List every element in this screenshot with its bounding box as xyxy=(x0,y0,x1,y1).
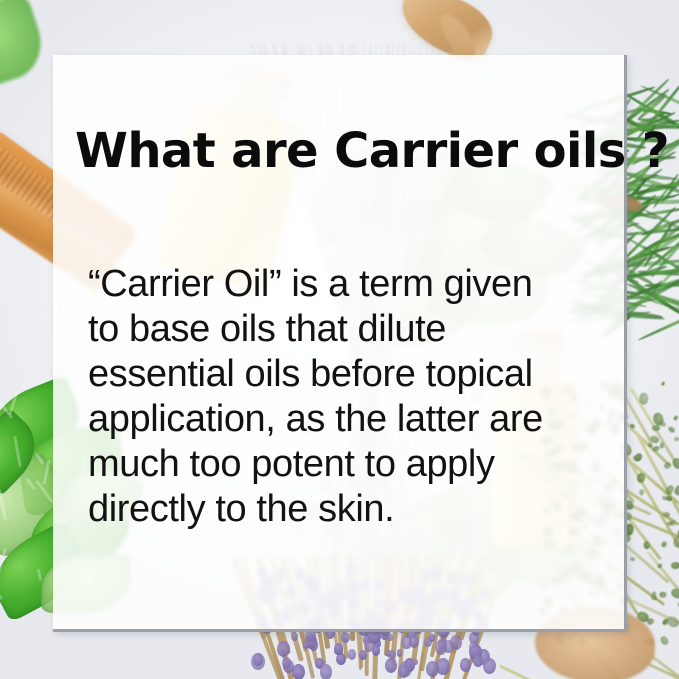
lavender-bud xyxy=(291,632,298,641)
lavender-bud xyxy=(277,641,290,657)
lavender-bud xyxy=(388,634,393,641)
body-line: directly to the skin. xyxy=(88,487,608,532)
thyme-leaflet xyxy=(643,540,650,548)
lavender-bud xyxy=(473,655,483,667)
body-line: application, as the latter are xyxy=(88,397,608,442)
thyme-leaflet xyxy=(670,587,679,600)
thyme-leaflet xyxy=(640,392,649,404)
thyme-leaflet xyxy=(640,489,645,495)
thyme-leaflet xyxy=(660,635,671,646)
lavender-bud xyxy=(303,641,309,649)
lavender-bud xyxy=(341,632,350,643)
lavender-bud xyxy=(348,649,357,660)
infographic-image: What are Carrier oils ? “Carrier Oil” is… xyxy=(0,0,679,679)
body-line: “Carrier Oil” is a term given xyxy=(88,262,608,307)
thyme-leaflet xyxy=(632,454,640,461)
body-paragraph: “Carrier Oil” is a term givento base oil… xyxy=(88,262,608,532)
page-title: What are Carrier oils ? xyxy=(75,127,609,175)
thyme-leaflet xyxy=(630,556,636,561)
lavender-bud xyxy=(372,645,381,656)
white-text-card: What are Carrier oils ? “Carrier Oil” is… xyxy=(53,55,627,632)
lavender-bud xyxy=(401,636,411,649)
card-content: What are Carrier oils ? “Carrier Oil” is… xyxy=(53,55,624,629)
thyme-leaflet xyxy=(663,462,672,470)
thyme-leaflet xyxy=(636,472,646,484)
body-line: essential oils before topical xyxy=(88,352,608,397)
lavender-bud xyxy=(253,653,263,666)
lavender-bud xyxy=(483,658,496,674)
thyme-leaflet xyxy=(674,437,679,442)
body-line: to base oils that dilute xyxy=(88,307,608,352)
lavender-bud xyxy=(397,649,403,656)
lavender-bud xyxy=(460,658,471,672)
thyme-leaflet xyxy=(650,594,657,601)
thyme-leaflet xyxy=(671,562,679,569)
thyme-leaflet xyxy=(667,425,676,433)
lavender-bud xyxy=(359,650,367,660)
lavender-bud xyxy=(320,664,333,679)
thyme-leaflet xyxy=(660,541,667,549)
lavender-bud xyxy=(435,640,447,654)
thyme-leaflet xyxy=(661,382,665,387)
lavender-bud xyxy=(398,665,408,678)
body-line: much too potent to apply xyxy=(88,442,608,487)
thyme-leaflet xyxy=(672,415,679,422)
lavender-bud xyxy=(282,657,291,669)
thyme-leaflet xyxy=(652,425,660,431)
thyme-leaflet xyxy=(659,592,667,598)
lavender-bud xyxy=(334,643,344,655)
